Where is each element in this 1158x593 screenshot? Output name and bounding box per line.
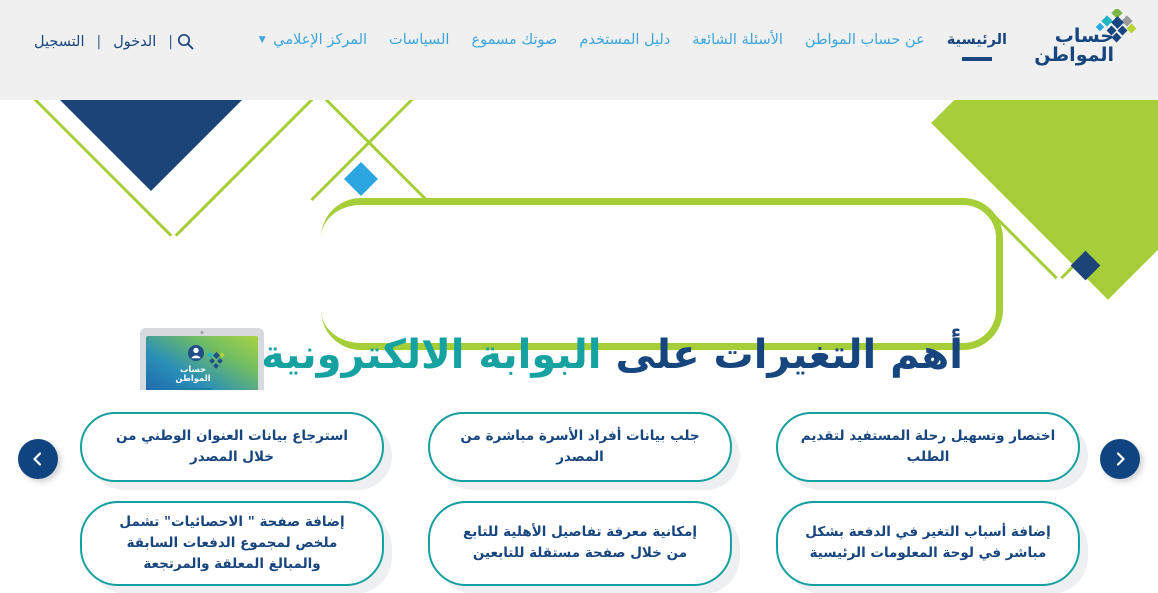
search-icon[interactable] [177, 33, 194, 50]
chevron-down-icon: ▼ [259, 30, 266, 50]
nav-item-label: الأسئلة الشائعة [692, 32, 783, 48]
feature-card-row: إضافة أسباب التغير في الدفعة بشكل مباشر … [78, 501, 1080, 586]
chevron-left-icon [30, 451, 46, 467]
hero-heading: أهم التغيرات على البوابة الالكترونية [261, 335, 963, 375]
hero-heading-part-1: أهم التغيرات على [615, 332, 963, 378]
search-glyph [177, 33, 194, 50]
nav-item-user-guide[interactable]: دليل المستخدم [568, 30, 681, 50]
feature-card[interactable]: إمكانية معرفة تفاصيل الأهلية للتابع من خ… [428, 501, 732, 586]
nav-item-policies[interactable]: السياسات [378, 30, 460, 50]
blue-diamond-decor [344, 162, 378, 196]
login-link[interactable]: الدخول [101, 34, 168, 50]
feature-card-text: اختصار وتسهيل رحلة المستفيد لتقديم الطلب [800, 426, 1056, 468]
feature-card[interactable]: جلب بيانات أفراد الأسرة مباشرة من المصدر [428, 412, 732, 482]
nav-item-media-center[interactable]: المركز الإعلامي ▼ [248, 30, 378, 50]
auth-separator: | [168, 34, 173, 50]
nav-item-about[interactable]: عن حساب المواطن [794, 30, 936, 50]
auth-separator: | [96, 34, 101, 50]
page-root: حساب المواطن الرئيسية عن حساب المواطن ال… [0, 0, 1158, 593]
svg-text:المواطن: المواطن [175, 373, 210, 384]
auth-bar: التسجيل | الدخول | [22, 33, 204, 50]
feature-card[interactable]: إضافة صفحة " الاحصائيات" تشمل ملخص لمجمو… [80, 501, 384, 586]
laptop-illustration: حساب المواطن [112, 328, 292, 390]
carousel-next-button[interactable]: التالي [1100, 439, 1140, 479]
register-link[interactable]: التسجيل [22, 34, 96, 50]
nav-item-faq[interactable]: الأسئلة الشائعة [681, 30, 794, 50]
hero-heading-part-2: البوابة الالكترونية [261, 332, 602, 378]
nav-item-home[interactable]: الرئيسية [936, 30, 1018, 50]
nav-item-label: المركز الإعلامي [273, 32, 367, 48]
site-logo[interactable]: حساب المواطن [1028, 7, 1140, 69]
main-navigation: الرئيسية عن حساب المواطن الأسئلة الشائعة… [248, 30, 1018, 50]
features-carousel: السابق التالي اختصار وتسهيل رحلة المستفي… [0, 390, 1158, 593]
feature-card[interactable]: استرجاع بيانات العنوان الوطني من خلال ال… [80, 412, 384, 482]
feature-card-text: إضافة صفحة " الاحصائيات" تشمل ملخص لمجمو… [104, 512, 360, 575]
feature-card-text: إمكانية معرفة تفاصيل الأهلية للتابع من خ… [452, 522, 708, 564]
site-header: حساب المواطن الرئيسية عن حساب المواطن ال… [0, 0, 1158, 100]
nav-item-label: الرئيسية [947, 32, 1007, 48]
feature-card-grid: اختصار وتسهيل رحلة المستفيد لتقديم الطلب… [78, 412, 1080, 586]
feature-card[interactable]: اختصار وتسهيل رحلة المستفيد لتقديم الطلب [776, 412, 1080, 482]
logo-wordmark: حساب المواطن [1028, 27, 1114, 65]
header-inner: حساب المواطن الرئيسية عن حساب المواطن ال… [0, 0, 1158, 100]
navy-triangle-decor [60, 100, 242, 191]
nav-item-label: السياسات [389, 32, 449, 48]
feature-card-row: اختصار وتسهيل رحلة المستفيد لتقديم الطلب… [78, 412, 1080, 482]
nav-item-your-voice[interactable]: صوتك مسموع [460, 30, 568, 50]
feature-card[interactable]: إضافة أسباب التغير في الدفعة بشكل مباشر … [776, 501, 1080, 586]
active-nav-underline [962, 57, 992, 61]
feature-card-text: جلب بيانات أفراد الأسرة مباشرة من المصدر [452, 426, 708, 468]
nav-item-label: دليل المستخدم [579, 32, 670, 48]
feature-card-text: استرجاع بيانات العنوان الوطني من خلال ال… [104, 426, 360, 468]
carousel-prev-button[interactable]: السابق [18, 439, 58, 479]
heading-green-frame [321, 198, 1003, 350]
logo-line-2: المواطن [1028, 46, 1114, 65]
chevron-right-icon [1112, 451, 1128, 467]
feature-card-text: إضافة أسباب التغير في الدفعة بشكل مباشر … [800, 522, 1056, 564]
nav-item-label: عن حساب المواطن [805, 32, 925, 48]
hero-banner: أهم التغيرات على البوابة الالكترونية حسا [0, 100, 1158, 390]
nav-item-label: صوتك مسموع [471, 32, 557, 48]
